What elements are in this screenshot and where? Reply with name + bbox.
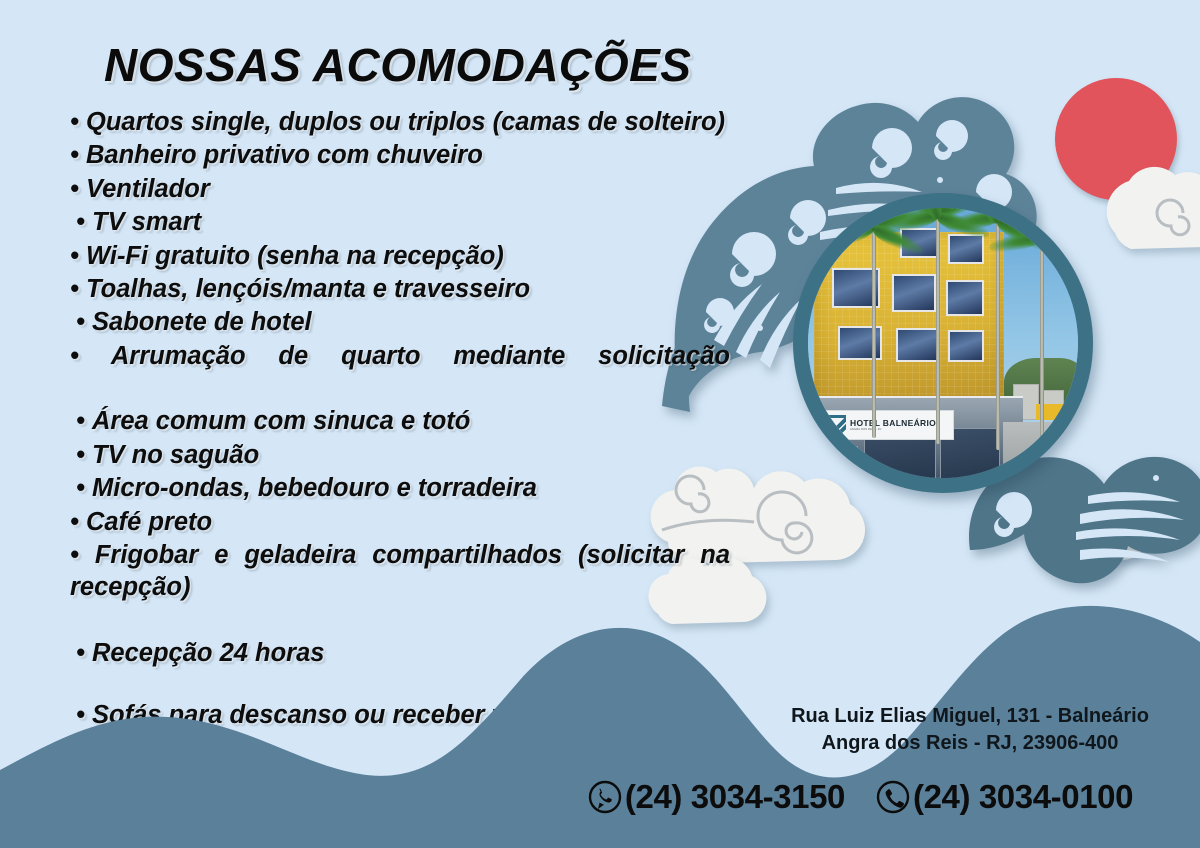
list-item: • Ventilador: [70, 173, 730, 205]
list-item: • Banheiro privativo com chuveiro: [70, 139, 730, 171]
page-title: NOSSAS ACOMODAÇÕES: [104, 38, 691, 92]
telephone-phone[interactable]: (24) 3034-0100: [875, 778, 1133, 816]
footer-phones: (24) 3034-3150 (24) 3034-0100: [540, 778, 1180, 816]
hotel-logo-icon: [823, 415, 846, 436]
list-item: • Wi-Fi gratuito (senha na recepção): [70, 240, 730, 272]
cloud-ring-bottom: [1020, 470, 1200, 590]
list-item: • Sabonete de hotel: [70, 306, 730, 338]
list-item: • Quartos single, duplos ou triplos (cam…: [70, 106, 730, 138]
cloud-top-right: [1075, 155, 1200, 295]
whatsapp-icon: [587, 779, 623, 815]
whatsapp-phone[interactable]: (24) 3034-3150: [587, 778, 845, 816]
red-sun-circle: [1055, 78, 1177, 200]
list-item: • TV smart: [70, 206, 730, 238]
accommodations-flyer: HOTEL BALNEÁRIO ANGRA DOS REIS - RJ: [0, 0, 1200, 848]
footer-address: Rua Luiz Elias Miguel, 131 - Balneário A…: [744, 703, 1196, 757]
hotel-photo: HOTEL BALNEÁRIO ANGRA DOS REIS - RJ: [808, 208, 1078, 478]
palm-tree: [844, 208, 904, 438]
whatsapp-number: (24) 3034-3150: [625, 778, 845, 816]
list-item: • TV no saguão: [70, 439, 730, 471]
list-item: • Área comum com sinuca e totó: [70, 405, 730, 437]
list-item: • Arrumação de quarto mediante solicitaç…: [70, 340, 730, 405]
phone-icon: [875, 779, 911, 815]
list-item: • Toalhas, lençóis/manta e travesseiro: [70, 273, 730, 305]
palm-tree: [908, 208, 968, 444]
palm-tree: [1014, 218, 1070, 456]
list-item: • Café preto: [70, 506, 730, 538]
address-line-1: Rua Luiz Elias Miguel, 131 - Balneário: [744, 703, 1196, 730]
hotel-photo-ring: HOTEL BALNEÁRIO ANGRA DOS REIS - RJ: [793, 193, 1093, 493]
telephone-number: (24) 3034-0100: [913, 778, 1133, 816]
address-line-2: Angra dos Reis - RJ, 23906-400: [744, 730, 1196, 757]
list-item: • Micro-ondas, bebedouro e torradeira: [70, 472, 730, 504]
